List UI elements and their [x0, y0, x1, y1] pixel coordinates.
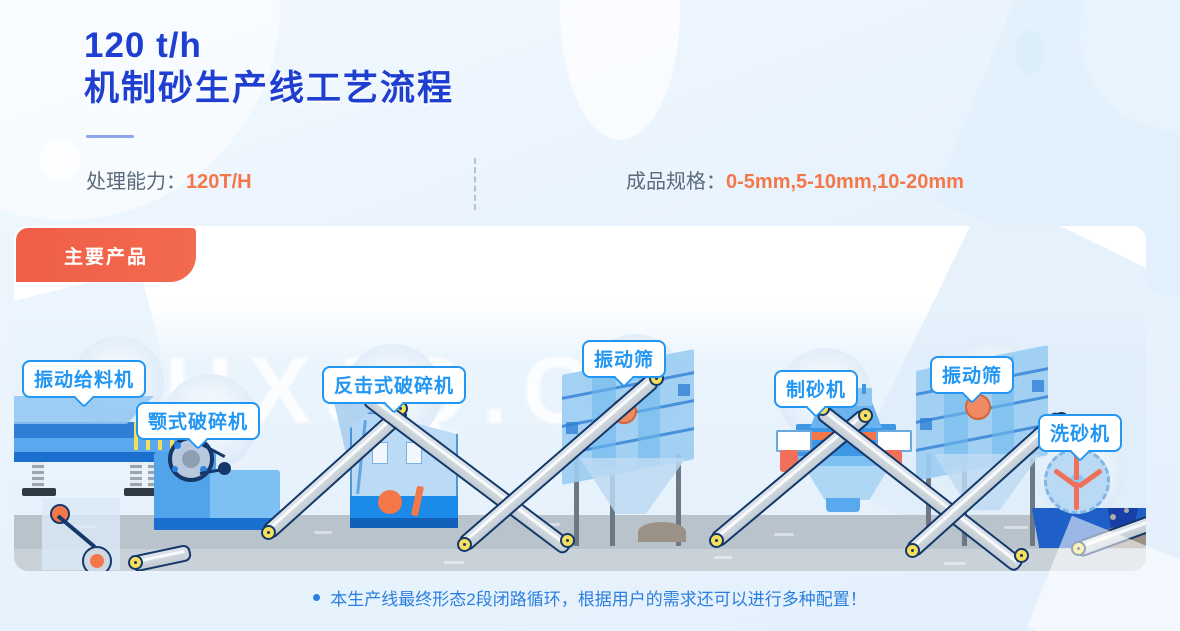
spec-list: 处理能力：120T/H 成品规格：0-5mm,5-10mm,10-20mm: [0, 166, 1180, 206]
footer-note-text: 本生产线最终形态2段闭路循环，根据用户的需求还可以进行多种配置！: [330, 590, 866, 609]
label-sand-maker[interactable]: 制砂机: [774, 370, 858, 408]
label-jaw-crusher[interactable]: 颚式破碎机: [136, 402, 260, 440]
spec-output-size-value: 0-5mm,5-10mm,10-20mm: [726, 171, 964, 193]
spec-capacity: 处理能力：120T/H: [86, 166, 252, 198]
conveyor-0-pulley: [128, 555, 143, 570]
spec-output-size-label: 成品规格：: [626, 171, 726, 193]
spec-capacity-label: 处理能力：: [86, 171, 186, 193]
conveyor-4-pulley-a: [709, 533, 724, 548]
header: 120 t/h 机制砂生产线工艺流程 处理能力：120T/H 成品规格：0-5m…: [0, 0, 1180, 228]
infographic-root: 120 t/h 机制砂生产线工艺流程 处理能力：120T/H 成品规格：0-5m…: [0, 0, 1180, 631]
conveyor-6-pulley-a: [905, 543, 920, 558]
conveyor-2-pulley-b: [560, 533, 575, 548]
label-vibrating-screen-2[interactable]: 振动筛: [930, 356, 1014, 394]
conveyor-4-pulley-b: [858, 408, 873, 423]
page-title: 120 t/h 机制砂生产线工艺流程: [84, 26, 454, 112]
label-vibrating-screen-1[interactable]: 振动筛: [582, 340, 666, 378]
label-sand-washer[interactable]: 洗砂机: [1038, 414, 1122, 452]
conveyor-3-pulley-a: [457, 537, 472, 552]
footer-bullet-icon: [313, 594, 320, 601]
spec-output-size: 成品规格：0-5mm,5-10mm,10-20mm: [626, 166, 964, 198]
conveyor-1-pulley-a: [261, 525, 276, 540]
title-capacity: 120 t/h: [84, 26, 454, 66]
label-impact-crusher[interactable]: 反击式破碎机: [322, 366, 466, 404]
footer-note: 本生产线最终形态2段闭路循环，根据用户的需求还可以进行多种配置！: [0, 585, 1180, 610]
watermark: HXJQ.CN: [164, 336, 864, 446]
label-vibrating-feeder[interactable]: 振动给料机: [22, 360, 146, 398]
spec-capacity-value: 120T/H: [186, 171, 252, 193]
sand-pile-1: [638, 522, 686, 542]
main-products-badge-label: 主要产品: [64, 242, 148, 269]
conveyor-5-pulley-b: [1014, 548, 1029, 563]
main-products-badge: 主要产品: [16, 228, 196, 282]
title-main: 机制砂生产线工艺流程: [84, 66, 454, 112]
title-rule: [86, 135, 134, 138]
